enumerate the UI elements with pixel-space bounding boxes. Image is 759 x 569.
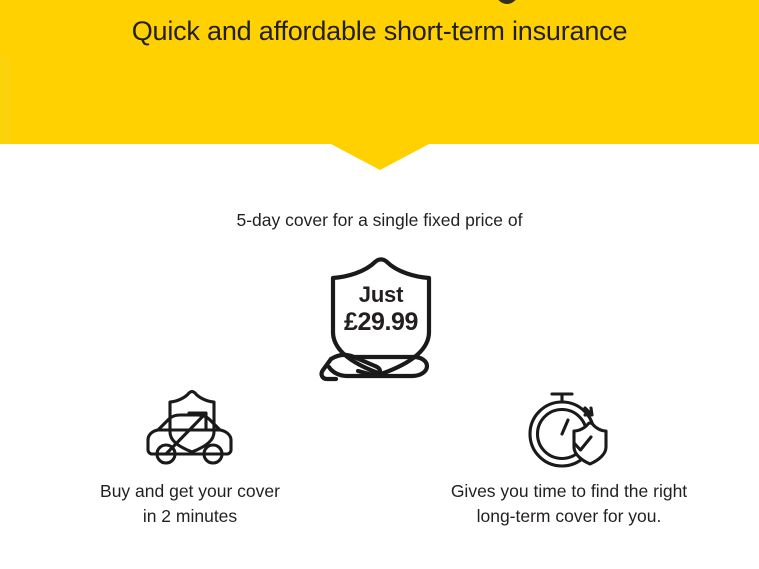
caption-line-2: in 2 minutes [30,504,350,529]
promo-banner: Quick and affordable short-term insuranc… [0,0,759,144]
caption-line-1: Buy and get your cover [30,479,350,504]
feature-buy-quickly: Buy and get your cover in 2 minutes [30,385,350,529]
caption-line-2: long-term cover for you. [409,504,729,529]
cropped-headline-descender [496,0,518,4]
car-with-shield-and-up-arrow-icon [30,385,350,473]
feature-time-to-decide: Gives you time to find the right long-te… [409,385,729,529]
feature-time-to-decide-caption: Gives you time to find the right long-te… [409,479,729,529]
stopwatch-with-check-shield-icon [409,385,729,473]
banner-left-edge-strip [0,57,11,144]
caption-line-1: Gives you time to find the right [409,479,729,504]
banner-subtitle: Quick and affordable short-term insuranc… [0,16,759,47]
shield-in-hand-icon [311,256,451,386]
triangle-down-notch-icon [329,143,431,170]
feature-buy-quickly-caption: Buy and get your cover in 2 minutes [30,479,350,529]
price-intro-text: 5-day cover for a single fixed price of [0,210,759,231]
